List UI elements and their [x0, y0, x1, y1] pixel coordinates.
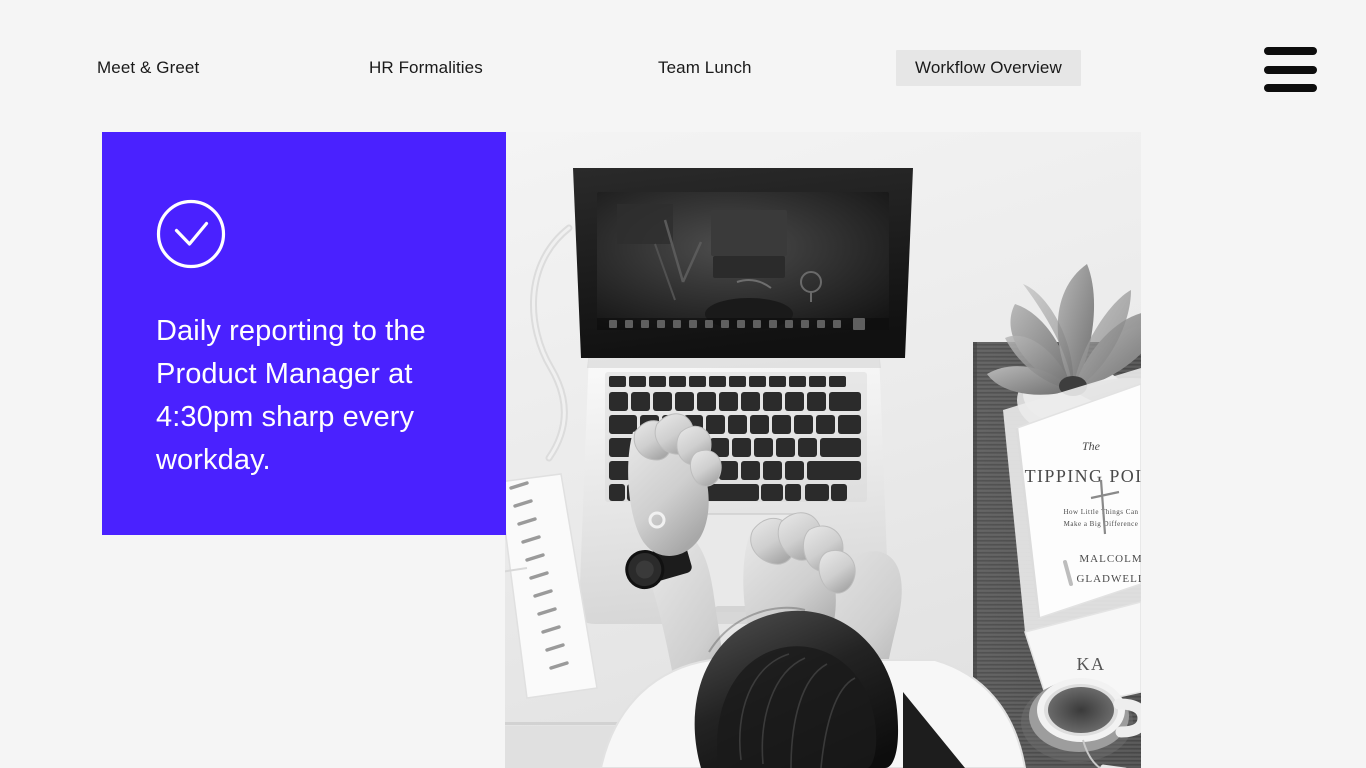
hamburger-bar-middle — [1264, 66, 1317, 74]
workspace-photo: The TIPPING POINT How Little Things Can … — [505, 132, 1141, 768]
svg-text:MALCOLM: MALCOLM — [1079, 553, 1141, 565]
svg-text:TIPPING POINT: TIPPING POINT — [1025, 466, 1141, 486]
nav-item-hr-formalities[interactable]: HR Formalities — [369, 58, 483, 78]
svg-text:KA: KA — [1077, 654, 1106, 674]
check-circle-icon — [156, 199, 226, 269]
hamburger-bar-top — [1264, 47, 1317, 55]
svg-text:GLADWELL: GLADWELL — [1076, 573, 1141, 585]
callout-panel: Daily reporting to the Product Manager a… — [102, 132, 506, 535]
callout-text: Daily reporting to the Product Manager a… — [156, 310, 476, 482]
svg-text:How Little Things Can: How Little Things Can — [1063, 508, 1138, 516]
svg-text:The: The — [1082, 439, 1101, 453]
hamburger-bar-bottom — [1264, 84, 1317, 92]
nav-item-workflow-overview[interactable]: Workflow Overview — [896, 50, 1081, 86]
svg-text:Make a Big Difference: Make a Big Difference — [1064, 520, 1139, 528]
nav-item-team-lunch[interactable]: Team Lunch — [658, 58, 752, 78]
onboarding-page: Meet & Greet HR Formalities Team Lunch W… — [0, 0, 1366, 768]
hamburger-menu-icon[interactable] — [1264, 47, 1318, 92]
top-navigation: Meet & Greet HR Formalities Team Lunch W… — [0, 0, 1366, 132]
nav-item-meet-greet[interactable]: Meet & Greet — [97, 58, 199, 78]
